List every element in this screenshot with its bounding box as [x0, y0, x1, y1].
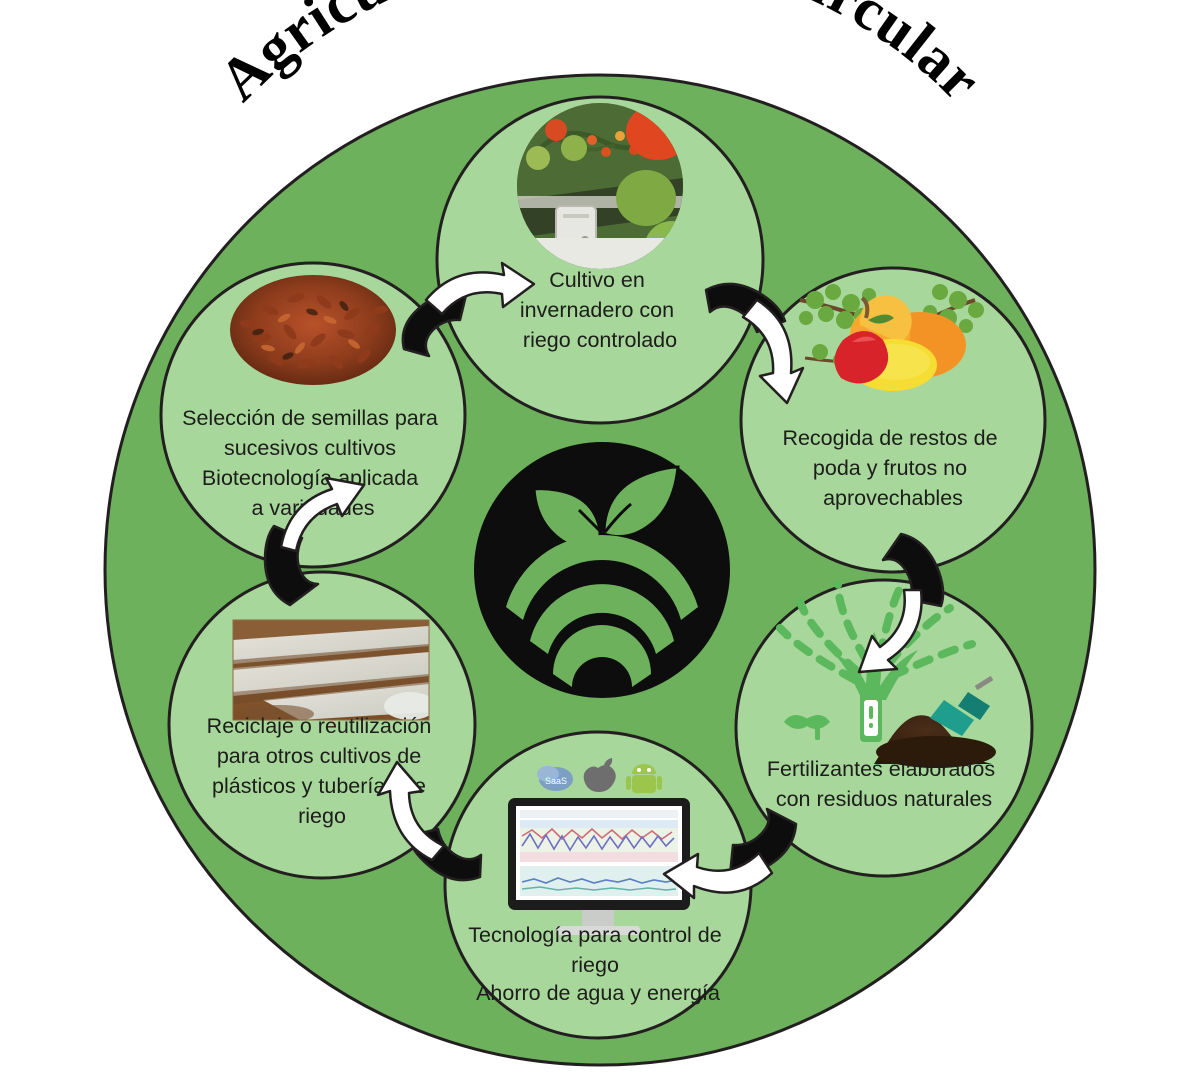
infographic-canvas: Cultivo en invernadero con riego control… [0, 0, 1200, 1077]
svg-text:SaaS: SaaS [545, 776, 567, 786]
circular-diagram: Cultivo en invernadero con riego control… [0, 0, 1200, 1077]
plastic-mulch-field-photo [233, 620, 436, 723]
center-logo-badge[interactable] [474, 442, 730, 698]
seeds-pile-photo [230, 275, 396, 385]
node-cultivo-invernadero[interactable]: Cultivo en invernadero con riego control… [437, 97, 763, 423]
node-recogida-restos[interactable]: Recogida de restos de poda y frutos no a… [741, 268, 1045, 572]
